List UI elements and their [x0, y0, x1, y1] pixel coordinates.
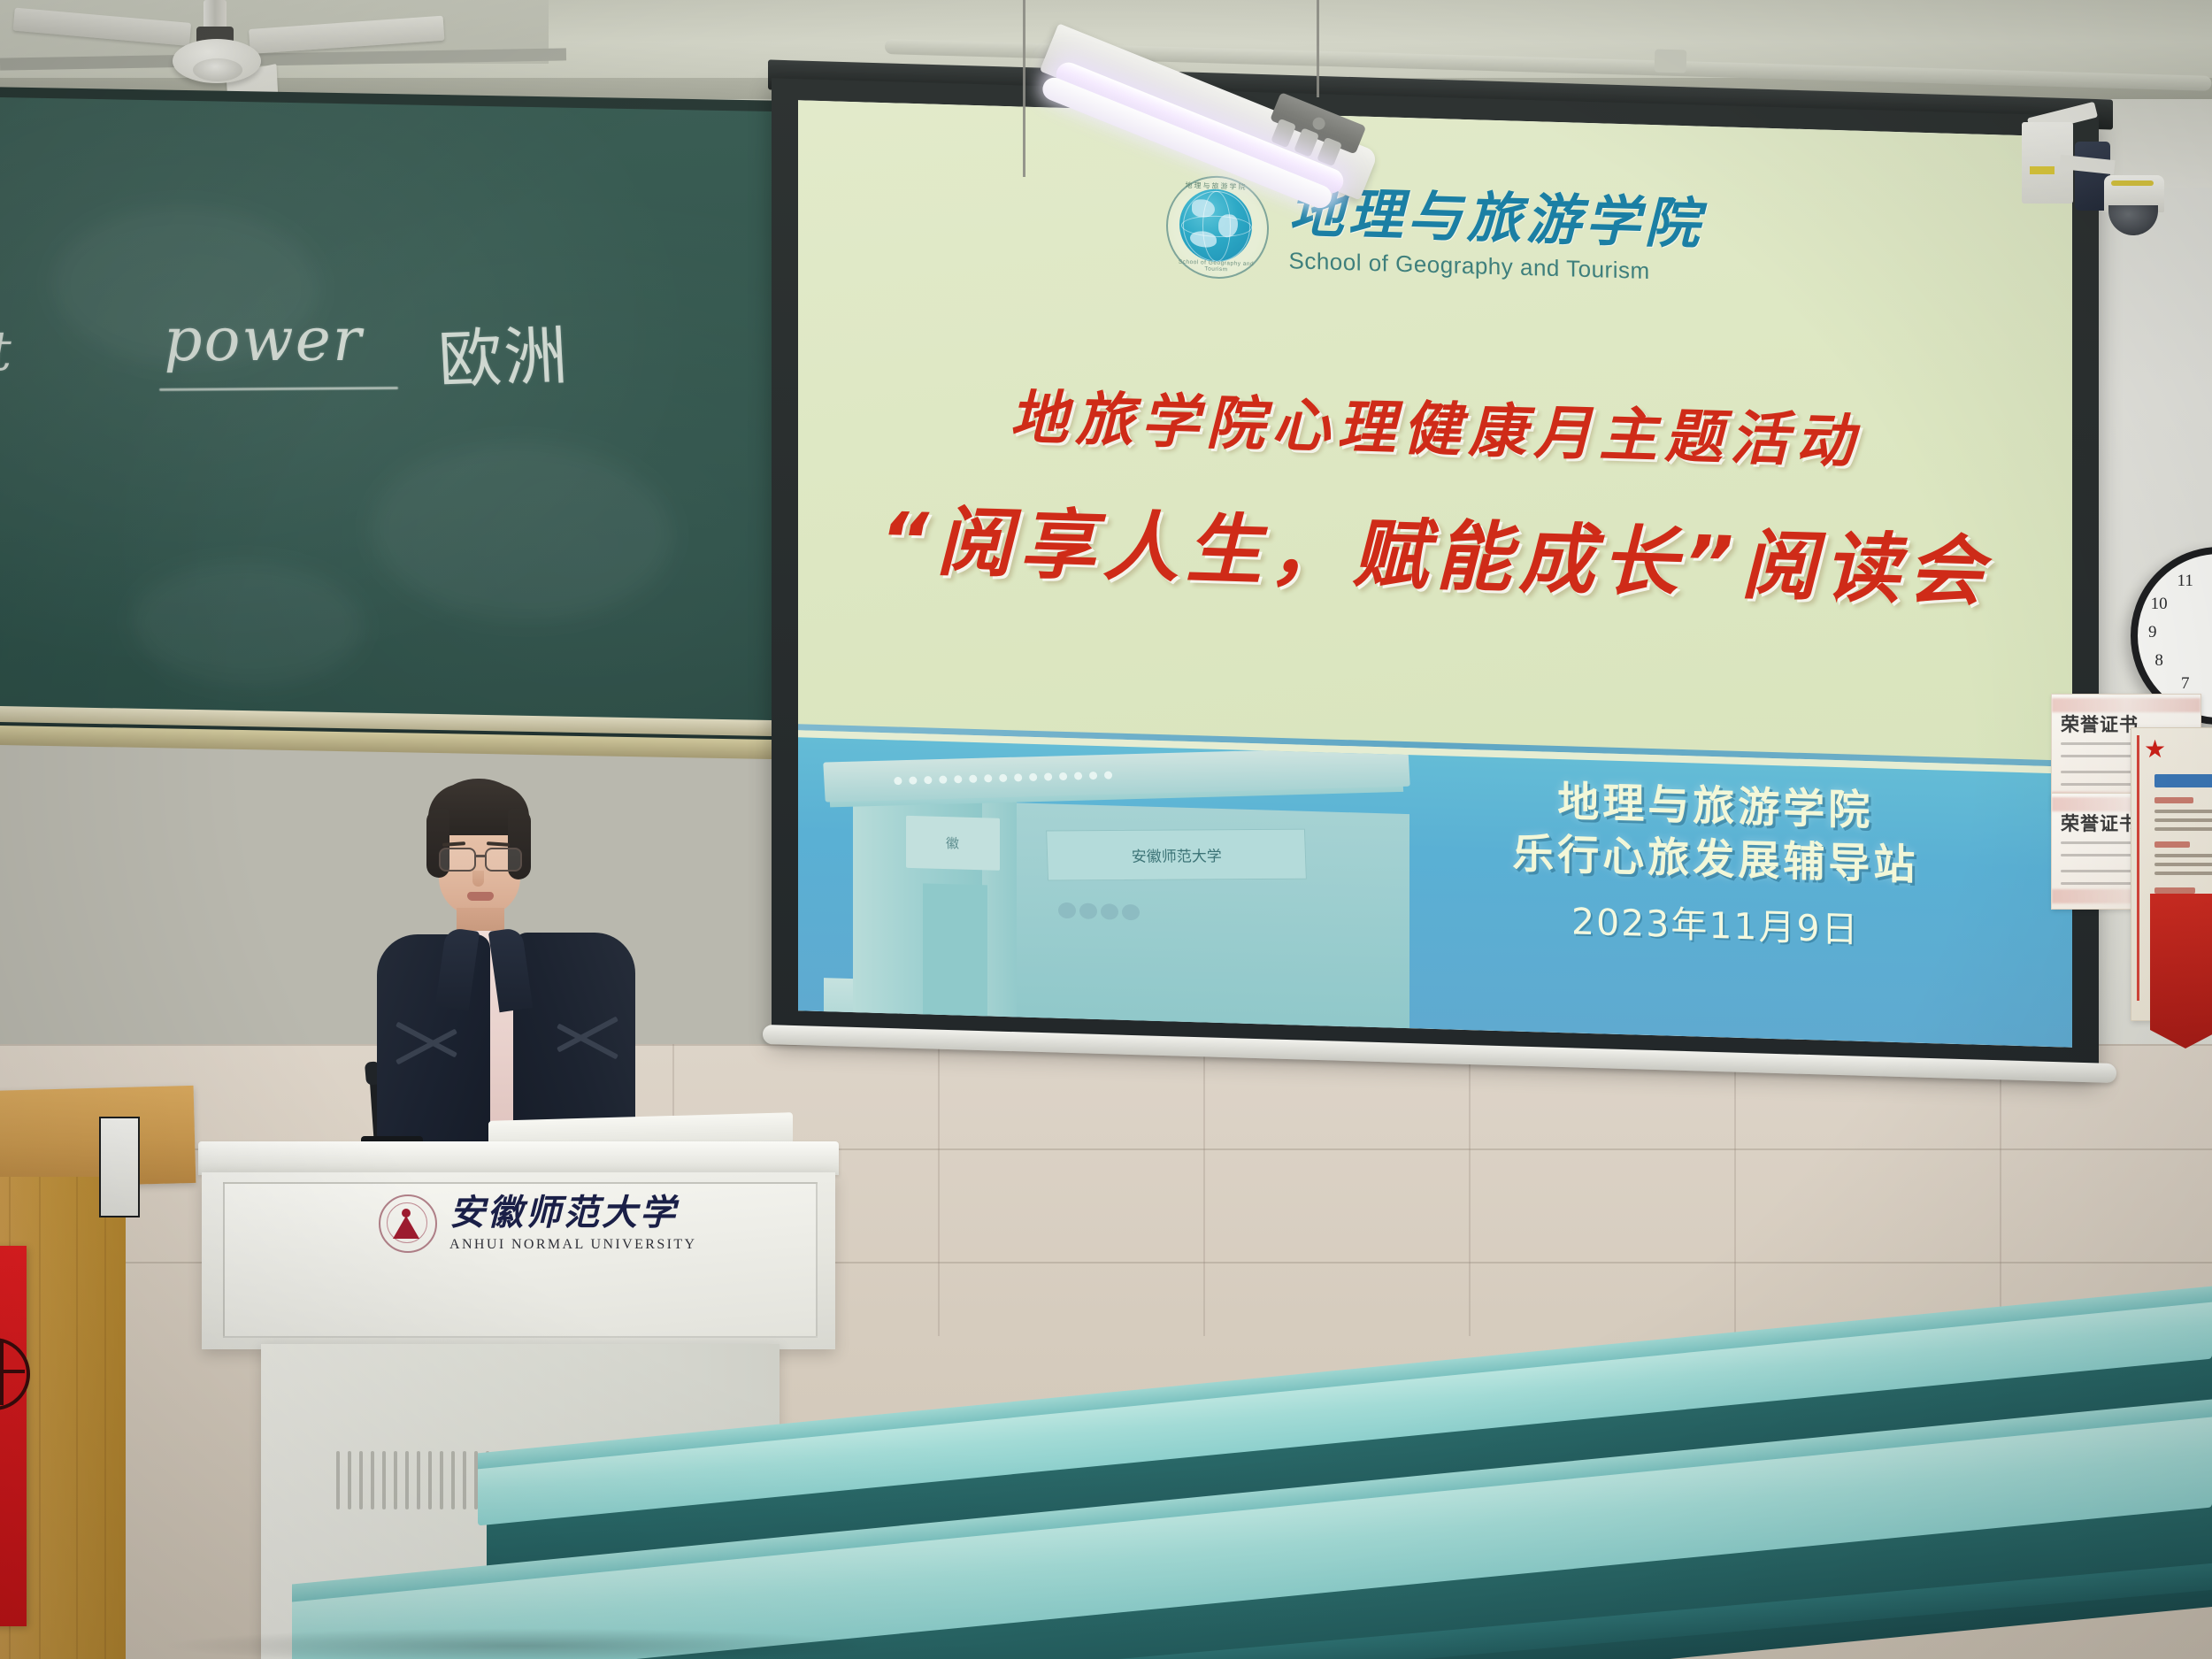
chalk-text-chinese: 欧洲	[435, 303, 571, 400]
gate-plaque-text: 徽	[946, 833, 959, 852]
gate-lanterns	[1058, 902, 1328, 972]
classroom-scene: t power 欧洲 地理与旅游学院	[0, 0, 2212, 1659]
red-banner-left	[0, 1246, 27, 1626]
university-name-en: ANHUI NORMAL UNIVERSITY	[449, 1237, 696, 1253]
certificate-title: 荣誉证书	[2061, 810, 2139, 836]
projected-slide: 地理与旅游学院 School of Geography and Tourism	[798, 100, 2072, 1047]
gate-sign-text: 安徽师范大学	[1131, 843, 1222, 866]
poster-accent-bar	[2137, 735, 2139, 1001]
projector-screen[interactable]: 地理与旅游学院 School of Geography and Tourism	[772, 78, 2099, 1076]
presenter-nose	[472, 871, 484, 887]
podium-top-surface	[198, 1141, 839, 1175]
ceiling-fan-rod	[204, 0, 227, 30]
poster-header-band	[2154, 774, 2212, 787]
ceiling-pipe-joint	[1655, 50, 1687, 73]
gate-plaque: 徽	[906, 816, 1000, 871]
slide-footer-text: 地理与旅游学院 乐行心旅发展辅导站 2023年11月9日	[1448, 772, 1983, 956]
camera-label	[2030, 166, 2055, 174]
certificate-title: 荣誉证书	[2061, 710, 2139, 737]
red-star-icon: ★	[2144, 737, 2166, 762]
university-seal-icon	[379, 1194, 437, 1253]
clock-numeral: 9	[2141, 623, 2164, 642]
light-suspension-wire	[1317, 0, 1319, 97]
gate-sign: 安徽师范大学	[1046, 828, 1307, 880]
seal-arc-en: School of Geography and Tourism	[1168, 258, 1263, 273]
presenter-mouth	[467, 892, 494, 901]
campus-gate-illustration: 徽 安徽师范大学	[824, 738, 1409, 1048]
event-date: 2023年11月9日	[1448, 888, 1983, 956]
blackboard	[0, 97, 772, 736]
glasses-icon	[437, 848, 522, 869]
presenter	[380, 779, 637, 1150]
wall-switch-plate[interactable]	[99, 1117, 140, 1217]
slide-footer-band: 徽 安徽师范大学 地理与旅游学院 乐行心旅发展辅导站 2023年	[798, 738, 2072, 1048]
chalk-text-power: power	[163, 305, 364, 375]
light-suspension-wire	[1023, 0, 1025, 177]
slide-title-block: 地旅学院心理健康月主题活动 “阅享人生，赋能成长”阅读会	[798, 365, 2072, 623]
podium-university-logo: 安徽师范大学 ANHUI NORMAL UNIVERSITY	[379, 1194, 696, 1253]
clock-numeral: 7	[2174, 674, 2197, 694]
camera-stripe	[2111, 180, 2154, 186]
clock-numeral: 10	[2147, 595, 2170, 614]
clock-numeral: 6	[2208, 685, 2212, 704]
red-banner-right	[2150, 894, 2212, 1048]
floor-shadow	[159, 1628, 885, 1659]
wooden-beam	[0, 1086, 196, 1188]
ceiling-fan-hub	[193, 58, 242, 81]
clock-numeral: 12	[2208, 561, 2212, 580]
university-name-cn: 安徽师范大学	[449, 1195, 696, 1231]
clock-numeral: 8	[2147, 651, 2170, 671]
clock-numeral: 11	[2174, 572, 2197, 591]
chalk-text-fragment: t	[0, 319, 14, 383]
